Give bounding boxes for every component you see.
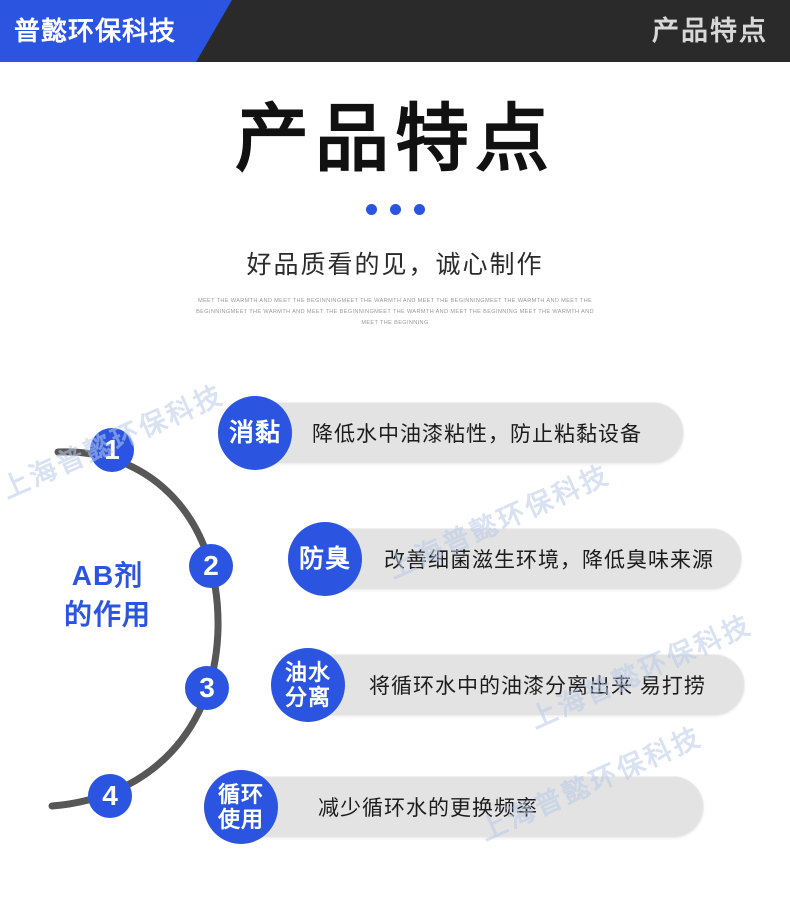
dot-icon — [366, 204, 377, 215]
feature-description: 降低水中油漆粘性，防止粘黏设备 — [312, 402, 642, 464]
feature-badge-label-line2: 使用 — [218, 807, 264, 832]
header-section-title: 产品特点 — [652, 12, 768, 50]
feature-badge-4: 循环 使用 — [204, 770, 278, 844]
page-title: 产品特点 — [0, 96, 790, 182]
diagram-center-label: AB剂 的作用 — [40, 556, 175, 634]
top-header-bar: 普懿环保科技 产品特点 — [0, 0, 790, 62]
brand-name: 普懿环保科技 — [14, 13, 176, 49]
step-number-2: 2 — [189, 544, 233, 588]
english-decorative-text: MEET THE WARMTH AND MEET THE BEGINNINGME… — [195, 296, 595, 329]
diagram-label-line1: AB剂 — [40, 556, 175, 595]
feature-badge-label: 防臭 — [299, 545, 351, 573]
diagram-label-line2: 的作用 — [40, 595, 175, 634]
feature-badge-label-line1: 循环 — [218, 782, 264, 807]
feature-badge-2: 防臭 — [288, 522, 362, 596]
feature-description: 减少循环水的更换频率 — [318, 776, 538, 838]
step-number-4: 4 — [88, 774, 132, 818]
feature-description: 改善细菌滋生环境，降低臭味来源 — [384, 528, 714, 590]
dot-icon — [390, 204, 401, 215]
decorative-dots — [0, 204, 790, 215]
feature-description: 将循环水中的油漆分离出来 易打捞 — [369, 654, 706, 716]
feature-badge-label-line2: 分离 — [285, 685, 331, 710]
dot-icon — [414, 204, 425, 215]
feature-badge-3: 油水 分离 — [271, 648, 345, 722]
step-number-3: 3 — [185, 666, 229, 710]
feature-badge-1: 消黏 — [218, 396, 292, 470]
page-subtitle: 好品质看的见，诚心制作 — [0, 248, 790, 282]
feature-badge-label: 消黏 — [229, 419, 281, 447]
step-number-1: 1 — [90, 428, 134, 472]
feature-badge-label-line1: 油水 — [285, 660, 331, 685]
